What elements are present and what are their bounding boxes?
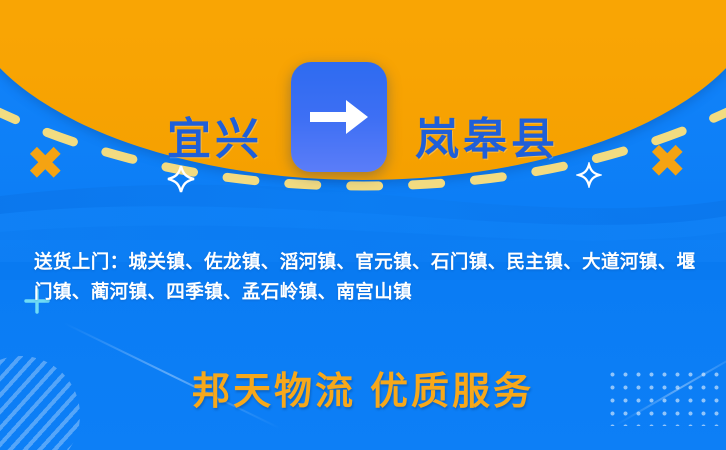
destination-city-label: 岚皋县	[415, 72, 559, 162]
delivery-towns-text: 送货上门：城关镇、佐龙镇、滔河镇、官元镇、石门镇、民主镇、大道河镇、堰门镇、蔺河…	[34, 248, 702, 308]
route-row: 宜兴 岚皋县	[0, 62, 726, 172]
company-slogan: 邦天物流优质服务	[0, 360, 726, 415]
slogan-tagline: 优质服务	[370, 371, 534, 413]
logistics-route-banner: 宜兴 岚皋县 ✖ ✖ 送货上门：城关镇、佐龙镇、滔河镇、官元镇、石门镇、民主镇、…	[0, 0, 726, 450]
origin-city-label: 宜兴	[167, 72, 263, 162]
arrow-right-icon	[291, 62, 387, 172]
slogan-company: 邦天物流	[192, 371, 356, 413]
